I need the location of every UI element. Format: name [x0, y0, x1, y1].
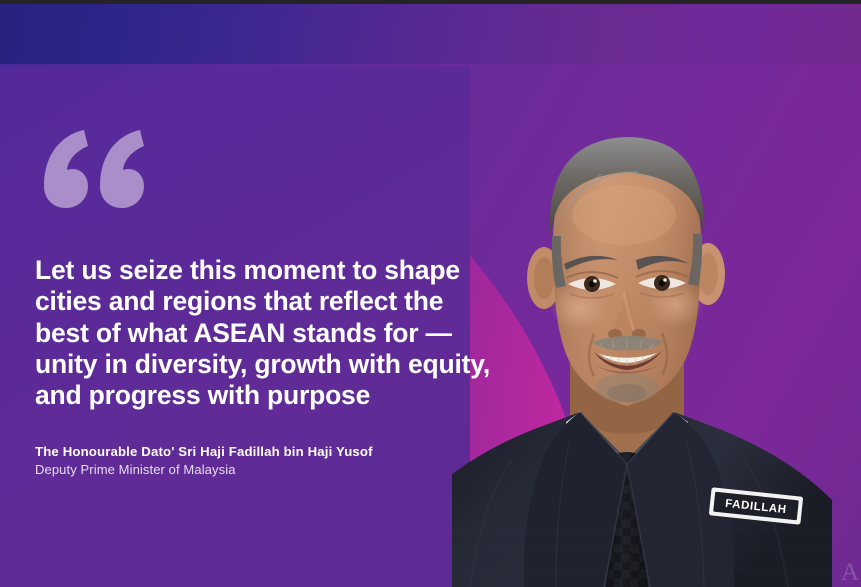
portrait-photo: FADILLAH [452, 60, 861, 587]
attribution: The Honourable Dato' Sri Haji Fadillah b… [35, 442, 465, 480]
top-gradient-band [0, 4, 861, 68]
attribution-role: Deputy Prime Minister of Malaysia [35, 461, 465, 480]
attribution-name: The Honourable Dato' Sri Haji Fadillah b… [35, 442, 465, 461]
double-quote-open-icon [38, 128, 150, 220]
top-dark-strip [0, 0, 861, 4]
quote-slide: FADILLAH Let us seize this moment to sha… [0, 0, 861, 587]
quote-text: Let us seize this moment to shape cities… [35, 255, 490, 411]
